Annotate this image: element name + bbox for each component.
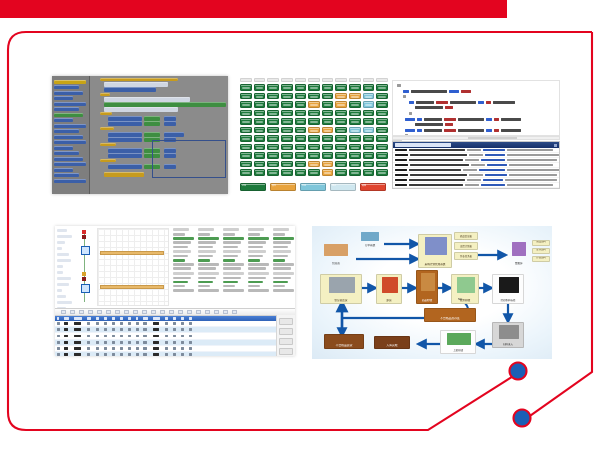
status-cell-green[interactable] [335,118,347,125]
status-cell-green[interactable] [267,101,279,108]
status-cell-green[interactable] [254,152,266,159]
log-segment [487,164,507,167]
code-token-key [405,129,415,132]
palette-block-sound[interactable] [54,173,79,177]
status-cell-green[interactable] [295,144,307,151]
code-token-key [486,129,492,132]
status-cell-green[interactable] [376,144,388,151]
status-cell-green[interactable] [281,152,293,159]
code-token-str [494,129,499,132]
status-cell-green[interactable] [322,93,334,100]
gantt-marker-darkred [82,235,86,239]
flow-node-db-note3[interactable]: 作业资料 [532,256,550,262]
status-cell-green[interactable] [363,178,375,179]
status-cell-green[interactable] [308,178,320,179]
status-cell-green[interactable] [240,93,252,100]
status-cell-green[interactable] [363,161,375,168]
status-cell-green[interactable] [349,118,361,125]
status-cell-green[interactable] [308,84,320,91]
palette-block-event[interactable] [54,80,86,84]
table-cell [128,353,131,356]
data-grid-column-header[interactable] [143,317,147,320]
table-cell [64,347,68,350]
status-cell-green[interactable] [322,110,334,117]
toolbar-button[interactable] [160,310,165,314]
flow-node-plan-list2[interactable]: 出货计划表 [454,242,478,250]
status-cell-green[interactable] [308,118,320,125]
workspace-block-row[interactable] [104,172,144,177]
palette-block-list[interactable] [54,124,86,128]
status-cell-green[interactable] [376,93,388,100]
toolbar-button[interactable] [106,310,111,314]
data-grid-column-header[interactable] [104,317,107,320]
status-cell-green[interactable] [295,127,307,134]
status-cell-green[interactable] [349,144,361,151]
status-cell-green[interactable] [254,118,266,125]
toolbar-button[interactable] [124,310,129,314]
status-cell-teal[interactable] [363,127,375,134]
status-cell-green[interactable] [363,169,375,176]
toolbar-button[interactable] [214,310,219,314]
status-cell-green[interactable] [295,93,307,100]
flow-node-inspect[interactable]: 商品检收 [416,270,438,304]
flow-node-supplier[interactable]: 供应商 [318,242,354,266]
status-cell-green[interactable] [267,84,279,91]
log-segment [463,169,477,172]
status-cell-green[interactable] [281,178,293,179]
status-cell-green[interactable] [376,118,388,125]
flow-node-erp[interactable]: 采购计划管理系统 [418,234,452,268]
status-cell-orange[interactable] [322,169,334,176]
toolbar-button[interactable] [115,310,120,314]
data-grid-column-header[interactable] [96,317,99,320]
data-grid-column-header[interactable] [173,317,176,320]
gantt-text-row [198,263,219,266]
grid-side-button[interactable] [279,348,293,355]
status-cell-green[interactable] [267,118,279,125]
status-cell-green[interactable] [322,84,334,91]
data-grid-column-header[interactable] [165,317,168,320]
status-cell-green[interactable] [254,84,266,91]
data-grid-column-header[interactable] [120,317,123,320]
status-cell-green[interactable] [295,135,307,142]
status-cell-green[interactable] [335,161,347,168]
gantt-text-column [173,228,199,293]
status-cell-green[interactable] [267,110,279,117]
palette-block-math[interactable] [54,107,79,111]
status-cell-green[interactable] [254,161,266,168]
palette-block-logic[interactable] [54,102,86,106]
status-cell-green[interactable] [335,152,347,159]
palette-block-control[interactable] [54,85,79,89]
status-cell-green[interactable] [335,144,347,151]
palette-block-clock[interactable] [54,168,73,172]
status-cell-green[interactable] [267,152,279,159]
db-icon [512,242,526,256]
status-cell-green[interactable] [295,161,307,168]
data-grid-column-header[interactable] [153,317,161,320]
status-cell-green[interactable] [308,110,320,117]
status-grid-column-header [281,78,293,82]
data-grid-column-header[interactable] [87,317,90,320]
status-cell-green[interactable] [376,135,388,142]
status-cell-teal[interactable] [363,93,375,100]
status-cell-green[interactable] [281,101,293,108]
palette-block-procedure[interactable] [54,135,83,139]
status-cell-green[interactable] [376,169,388,176]
code-token-key [403,90,409,93]
status-cell-green[interactable] [281,144,293,151]
log-segment [409,169,461,172]
data-grid-column-header[interactable] [128,317,131,320]
data-grid-column-header[interactable] [64,317,68,320]
status-cell-green[interactable] [295,118,307,125]
flow-node-truck[interactable]: 供应商送货 [320,274,362,304]
data-grid-column-header[interactable] [136,317,139,320]
table-cell [173,322,176,325]
flow-node-plan-list3[interactable]: 作业任务表 [454,252,478,260]
log-panel-title [395,143,451,147]
status-cell-green[interactable] [240,178,252,179]
code-editor-hscrollbar[interactable] [392,136,560,140]
status-cell-green[interactable] [376,161,388,168]
data-grid-column-header[interactable] [181,317,184,320]
palette-block-value[interactable] [54,113,83,117]
gantt-row-label [57,235,72,238]
flow-node-db-note1[interactable]: 商品资料 [532,240,550,246]
gantt-text-row [248,285,260,288]
scrollbar-thumb[interactable] [468,137,518,139]
status-cell-green[interactable] [254,110,266,117]
log-segment [410,164,469,167]
status-cell-green[interactable] [240,101,252,108]
toolbar-button[interactable] [142,310,147,314]
palette-block-sensor[interactable] [54,140,86,144]
status-cell-green[interactable] [267,169,279,176]
palette-block-control[interactable] [54,96,73,100]
status-cell-green[interactable] [335,135,347,142]
workspace-block-row[interactable] [108,153,142,158]
status-cell-green[interactable] [267,161,279,168]
gantt-text-columns [173,228,293,306]
status-cell-green[interactable] [254,178,266,179]
status-cell-green[interactable] [281,135,293,142]
workspace-block-cap[interactable] [100,93,110,96]
slide-canvas: 正常警告空闲停止故障 [0,0,600,450]
status-cell-green[interactable] [281,161,293,168]
table-cell [87,347,90,350]
grid-side-button[interactable] [279,328,293,335]
status-cell-green[interactable] [254,169,266,176]
workspace-block-row[interactable] [144,121,160,126]
status-cell-green[interactable] [322,152,334,159]
status-cell-green[interactable] [281,84,293,91]
log-row[interactable] [393,183,559,188]
table-cell [136,341,139,344]
status-cell-green[interactable] [240,144,252,151]
gantt-text-row [273,285,285,288]
status-cell-green[interactable] [281,118,293,125]
status-cell-green[interactable] [281,127,293,134]
workspace-block-cap[interactable] [100,143,116,146]
flow-node-stock-in-done[interactable]: 入库完成 [374,336,410,349]
gantt-bar[interactable] [100,251,164,255]
table-cell [57,353,60,356]
status-grid-column-header [267,78,279,82]
toolbar-button[interactable] [187,310,192,314]
status-cell-teal[interactable] [363,101,375,108]
workspace-block-cap[interactable] [100,159,116,162]
toolbar-button[interactable] [61,310,66,314]
palette-block-screen[interactable] [54,146,73,150]
grid-side-button[interactable] [279,318,293,325]
table-cell [112,341,115,344]
status-cell-orange[interactable] [308,101,320,108]
gantt-bar[interactable] [100,285,164,289]
close-icon[interactable] [554,144,557,147]
status-cell-green[interactable] [308,144,320,151]
gantt-text-row [248,246,263,249]
status-grid-column-header [240,78,252,82]
workspace-block-row[interactable] [108,137,142,142]
erp-icon [425,237,447,255]
status-cell-green[interactable] [335,178,347,179]
legend-item: 正常 [240,183,266,191]
status-cell-green[interactable] [240,110,252,117]
status-cell-green[interactable] [349,161,361,168]
status-cell-green[interactable] [363,152,375,159]
flow-node-verify[interactable]: 核查验收 [451,274,479,304]
workspace-block-cap[interactable] [100,112,112,115]
workspace-block-row[interactable] [104,107,178,112]
status-cell-green[interactable] [376,84,388,91]
palette-block-storage[interactable] [54,179,86,183]
status-grid-column-header [308,78,320,82]
table-cell [165,335,168,338]
status-cell-green[interactable] [363,110,375,117]
status-cell-green[interactable] [349,178,361,179]
toolbar-button[interactable] [169,310,174,314]
status-cell-orange[interactable] [349,93,361,100]
status-cell-green[interactable] [295,178,307,179]
table-row[interactable] [55,352,295,356]
status-cell-green[interactable] [240,152,252,159]
toolbar-button[interactable] [70,310,75,314]
flow-node-db[interactable]: 数据库 [508,240,530,266]
status-cell-green[interactable] [240,118,252,125]
status-cell-green[interactable] [240,127,252,134]
status-cell-green[interactable] [308,152,320,159]
status-cell-green[interactable] [295,152,307,159]
table-cell [104,353,107,356]
status-cell-green[interactable] [322,118,334,125]
data-grid-column-header[interactable] [189,317,192,320]
toolbar-button[interactable] [232,310,237,314]
log-output-panel [392,141,560,189]
table-cell [128,335,131,338]
toolbar-button[interactable] [223,310,228,314]
table-cell [165,328,168,331]
code-token-str [436,101,448,104]
workspace-block-row[interactable] [164,121,176,126]
status-cell-green[interactable] [295,84,307,91]
toolbar-button[interactable] [196,310,201,314]
status-cell-green[interactable] [363,118,375,125]
status-cell-orange[interactable] [308,127,320,134]
gantt-text-row [223,259,235,262]
code-line [397,106,555,109]
status-cell-green[interactable] [349,135,361,142]
gantt-text-heading [248,228,264,231]
table-cell [181,353,184,356]
status-cell-green[interactable] [254,93,266,100]
workspace-block-row[interactable] [108,121,142,126]
flow-node-shelving[interactable]: 上架存储 [440,330,476,354]
data-grid-column-header[interactable] [74,317,83,320]
status-cell-green[interactable] [308,135,320,142]
gantt-node-a[interactable] [81,246,90,255]
palette-block-canvas[interactable] [54,162,86,166]
flow-node-scan-in[interactable]: 扫码录入 [492,322,524,348]
status-cell-green[interactable] [349,84,361,91]
status-cell-green[interactable] [267,144,279,151]
toolbar-button[interactable] [178,310,183,314]
status-cell-green[interactable] [295,101,307,108]
status-cell-green[interactable] [376,127,388,134]
toolbar-button[interactable] [151,310,156,314]
toolbar-button[interactable] [79,310,84,314]
data-grid-column-header[interactable] [57,317,59,320]
status-cell-green[interactable] [376,178,388,179]
palette-block-variable[interactable] [54,129,79,133]
status-cell-green[interactable] [267,135,279,142]
status-cell-orange[interactable] [335,101,347,108]
status-cell-green[interactable] [281,169,293,176]
workspace-block-cap[interactable] [100,127,114,130]
status-cell-orange[interactable] [335,93,347,100]
palette-block-button[interactable] [54,151,79,155]
flow-node-db-note2[interactable]: 库存资料 [532,248,550,254]
flow-node-label: 不合格品暂存区 [425,317,475,320]
log-segment [469,174,483,177]
status-cell-orange[interactable] [322,127,334,134]
status-cell-green[interactable] [240,84,252,91]
status-cell-orange[interactable] [308,161,320,168]
flow-node-order-system[interactable]: 订单系统 [356,230,384,248]
table-cell [136,335,139,338]
gantt-text-row [273,241,291,244]
status-cell-green[interactable] [349,152,361,159]
flow-node-plan-list[interactable]: 商品信息表 [454,232,478,240]
gantt-text-heading [198,250,216,253]
gantt-row-label [57,289,62,292]
toolbar-button[interactable] [205,310,210,314]
status-cell-green[interactable] [267,127,279,134]
status-cell-green[interactable] [322,144,334,151]
flow-node-forklift[interactable]: 卸货 [376,274,402,304]
gantt-text-row [223,281,238,284]
table-cell [189,347,192,350]
flow-node-reject-return[interactable]: 不合格品退货 [324,334,364,349]
status-cell-green[interactable] [295,110,307,117]
toolbar-button[interactable] [88,310,93,314]
flow-node-reject-area[interactable]: 不合格品暂存区 [424,308,476,322]
status-cell-green[interactable] [308,93,320,100]
status-cell-green[interactable] [254,144,266,151]
status-cell-green[interactable] [335,127,347,134]
status-cell-teal[interactable] [349,127,361,134]
status-cell-green[interactable] [281,110,293,117]
status-cell-green[interactable] [254,101,266,108]
workspace-block-row[interactable] [108,164,142,169]
status-cell-green[interactable] [335,84,347,91]
status-cell-green[interactable] [295,169,307,176]
status-cell-green[interactable] [376,101,388,108]
status-cell-green[interactable] [349,101,361,108]
table-cell [143,335,147,338]
gantt-text-row [173,289,194,292]
code-token-str [444,129,456,132]
status-cell-green[interactable] [281,93,293,100]
status-cell-green[interactable] [322,135,334,142]
flow-node-barcode-print[interactable]: 打印条码标签 [492,274,524,304]
status-cell-green[interactable] [254,135,266,142]
log-segment [409,149,465,152]
data-grid-column-header[interactable] [112,317,115,320]
status-cell-green[interactable] [267,178,279,179]
status-cell-green[interactable] [349,110,361,117]
status-cell-orange[interactable] [322,161,334,168]
status-cell-green[interactable] [322,101,334,108]
status-cell-green[interactable] [267,93,279,100]
flow-node-label: 入库完成 [375,344,409,347]
status-cell-green[interactable] [376,110,388,117]
grid-side-button[interactable] [279,338,293,345]
table-cell [120,335,123,338]
status-cell-green[interactable] [363,144,375,151]
table-cell [120,322,123,325]
table-cell [143,322,147,325]
workspace-block-row[interactable] [104,87,156,92]
status-cell-green[interactable] [363,84,375,91]
status-cell-green[interactable] [308,169,320,176]
workspace-block-header[interactable] [100,78,178,81]
gantt-text-row [173,241,191,244]
palette-block-label[interactable] [54,157,83,161]
palette-block-control[interactable] [54,91,83,95]
table-cell [153,322,159,325]
status-cell-green[interactable] [335,110,347,117]
toolbar-button[interactable] [133,310,138,314]
gantt-node-b[interactable] [81,284,90,293]
palette-block-text[interactable] [54,118,73,122]
status-cell-green[interactable] [349,169,361,176]
status-cell-green[interactable] [240,169,252,176]
status-cell-green[interactable] [335,169,347,176]
status-cell-green[interactable] [376,152,388,159]
gantt-text-row [273,263,294,266]
legend-swatch: 故障 [360,183,386,191]
status-cell-green[interactable] [363,135,375,142]
status-cell-green[interactable] [322,178,334,179]
toolbar-button[interactable] [97,310,102,314]
status-cell-green[interactable] [254,127,266,134]
status-cell-green[interactable] [240,135,252,142]
legend-swatch: 停止 [330,183,356,191]
gantt-text-row [248,277,266,280]
code-token-id [450,101,476,104]
status-cell-green[interactable] [240,161,252,168]
